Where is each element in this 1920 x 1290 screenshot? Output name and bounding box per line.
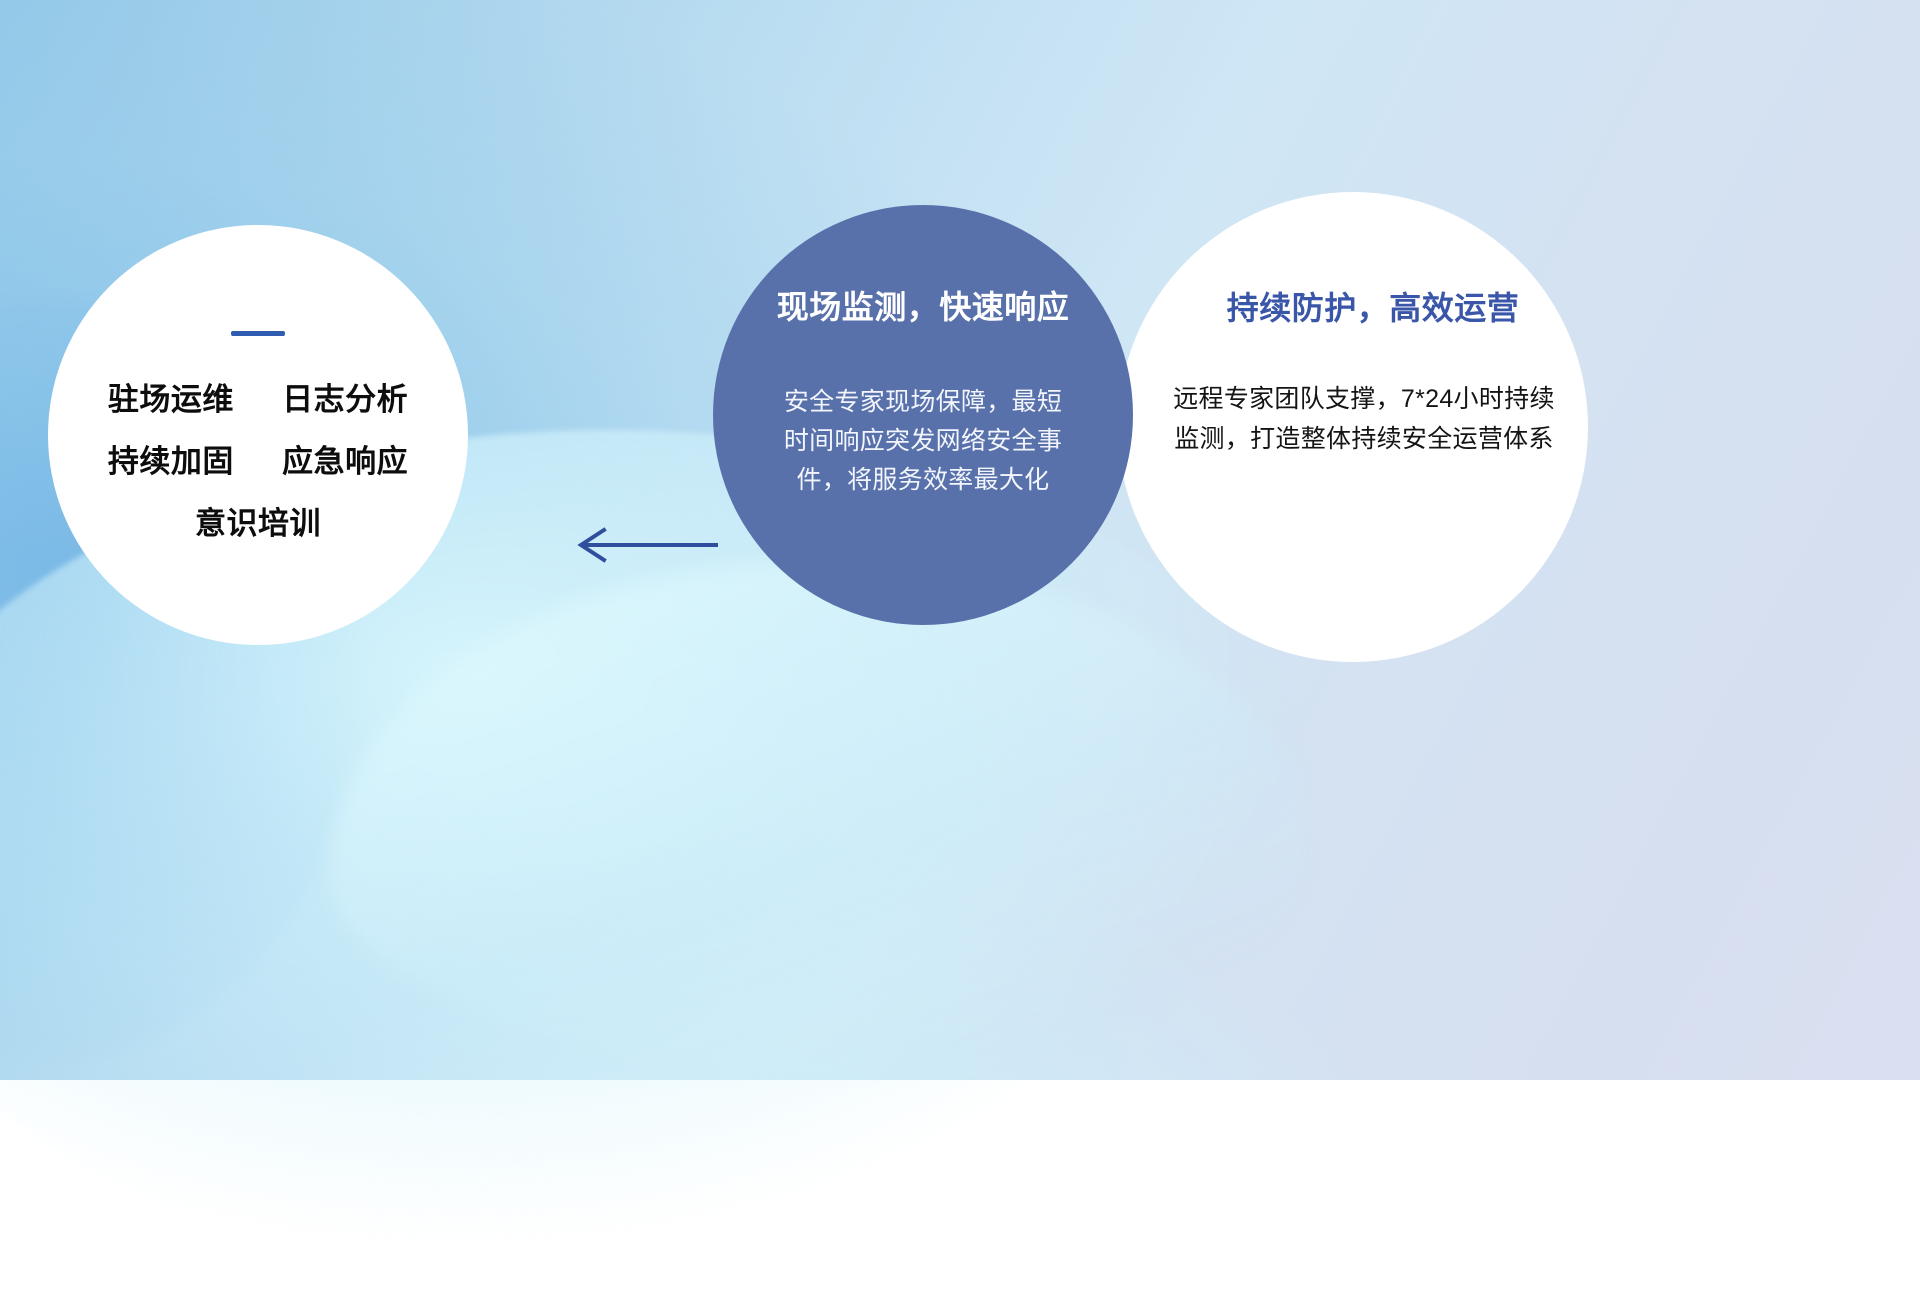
middle-circle-body: 安全专家现场保障，最短时间响应突发网络安全事件，将服务效率最大化 bbox=[773, 383, 1073, 499]
right-circle-body: 远程专家团队支撑，7*24小时持续监测，打造整体持续安全运营体系 bbox=[1147, 380, 1559, 459]
left-circle-tag-row: 持续加固 应急响应 bbox=[108, 446, 408, 477]
dash-divider-icon bbox=[231, 331, 285, 336]
middle-circle-card: 现场监测，快速响应 安全专家现场保障，最短时间响应突发网络安全事件，将服务效率最… bbox=[713, 205, 1133, 625]
right-circle-title: 持续防护，高效运营 bbox=[1187, 292, 1520, 324]
left-circle-tag-row: 驻场运维 日志分析 bbox=[108, 384, 408, 415]
left-circle-tag: 驻场运维 bbox=[108, 382, 234, 417]
left-circle-tag: 日志分析 bbox=[282, 382, 408, 417]
left-circle-tag: 意识培训 bbox=[195, 506, 321, 541]
left-circle-tag: 持续加固 bbox=[108, 444, 234, 479]
left-circle-tag-row: 意识培训 bbox=[195, 508, 321, 539]
arrow-left-icon bbox=[570, 522, 720, 568]
left-circle-card: 驻场运维 日志分析 持续加固 应急响应 意识培训 bbox=[48, 225, 468, 645]
left-circle-tag: 应急响应 bbox=[282, 444, 408, 479]
middle-circle-title: 现场监测，快速响应 bbox=[777, 291, 1070, 323]
right-circle-card: 持续防护，高效运营 远程专家团队支撑，7*24小时持续监测，打造整体持续安全运营… bbox=[1118, 192, 1588, 662]
